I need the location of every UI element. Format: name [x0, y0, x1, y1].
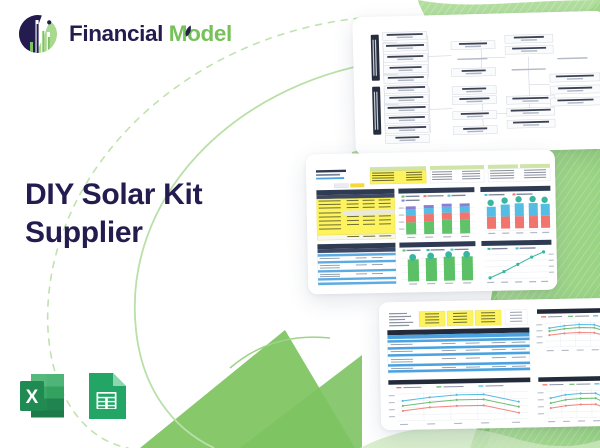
brand-name-part1: Financial [69, 21, 163, 46]
leaf-accent-icon [183, 25, 192, 37]
accent-curve [230, 337, 330, 368]
assumptions-block [419, 310, 527, 327]
dashboard-thumbnail [306, 150, 558, 295]
page-title-line1: DIY Solar Kit [25, 176, 260, 214]
google-sheets-file-icon[interactable] [83, 371, 129, 421]
bottom-green-triangle [140, 330, 355, 448]
statements-table [387, 327, 530, 373]
poster-canvas: Financial Model DIY Solar Kit Supplier X [0, 0, 600, 448]
brand-name: Financial Model [69, 23, 232, 46]
page-title-line2: Supplier [25, 214, 260, 252]
income-statement-table [316, 189, 395, 240]
file-format-icons: X [19, 371, 129, 421]
summary-table-2 [430, 165, 484, 183]
statements-thumbnail [379, 298, 600, 431]
excel-glyph: X [26, 387, 39, 408]
ratio-tree-thumbnail [352, 11, 600, 156]
page-title: DIY Solar Kit Supplier [25, 176, 260, 252]
circular-bar-chart-logo-icon [16, 12, 60, 56]
brand-lockup: Financial Model [16, 12, 232, 56]
summary-table-1 [370, 166, 426, 184]
excel-file-icon[interactable]: X [19, 371, 65, 421]
cashflow-table [317, 243, 396, 285]
preview-card-statements[interactable] [379, 298, 600, 431]
preview-card-ratio-tree[interactable] [352, 11, 600, 156]
preview-card-dashboard[interactable] [306, 150, 558, 295]
brand-name-part2: Model [169, 21, 232, 46]
